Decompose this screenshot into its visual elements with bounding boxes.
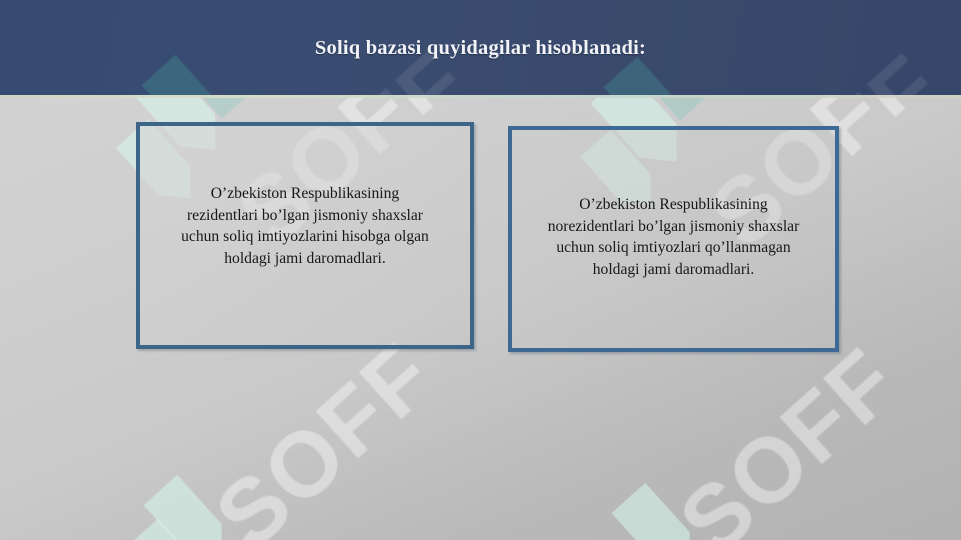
watermark-ribbon-icon <box>141 54 237 95</box>
watermark-text: SOFF <box>660 328 919 540</box>
watermark-ribbon-icon <box>143 474 239 540</box>
watermark-ribbon-icon <box>131 518 208 540</box>
nonresidents-tax-base-text: O’zbekiston Respublikasining norezidentl… <box>512 194 835 280</box>
nonresidents-tax-base-box: O’zbekiston Respublikasining norezidentl… <box>508 126 839 352</box>
watermark-ribbon-icon <box>611 482 707 540</box>
page-title: Soliq bazasi quyidagilar hisoblanadi: <box>0 37 961 60</box>
header-underline-divider <box>0 95 961 98</box>
watermark-text: SOFF <box>196 322 455 540</box>
residents-tax-base-box: O’zbekiston Respublikasining rezidentlar… <box>136 122 474 349</box>
watermark-ribbon-icon <box>603 56 699 95</box>
slide-canvas: SOFF SOFF SOFF SOFF SOFF SOFF Soliq baza… <box>0 0 961 540</box>
residents-tax-base-text: O’zbekiston Respublikasining rezidentlar… <box>140 183 470 269</box>
